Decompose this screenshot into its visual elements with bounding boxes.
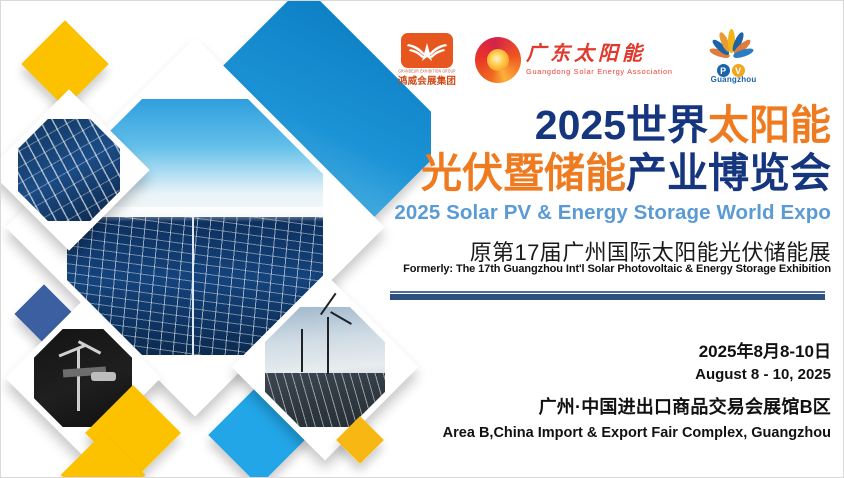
main-title-line-2: 光伏暨储能产业博览会 bbox=[421, 153, 831, 194]
hongwei-chinese-label: 鸿威会展集团 bbox=[398, 73, 456, 87]
gsea-chinese-label: 广东太阳能 bbox=[526, 44, 673, 64]
former-name-english: Formerly: The 17th Guangzhou Int'l Solar… bbox=[403, 263, 831, 275]
title-line1-orange: 太阳能 bbox=[708, 102, 831, 148]
title-line1-navy: 2025世界 bbox=[535, 102, 708, 148]
content-column: GRANDEUR EXHIBITION GROUP 鸿威会展集团 广东太阳能 G… bbox=[381, 1, 844, 478]
event-date-chinese: 2025年8月8-10日 bbox=[699, 337, 831, 362]
hongwei-english-label: GRANDEUR EXHIBITION GROUP bbox=[398, 68, 455, 73]
sun-swirl-icon bbox=[475, 37, 521, 83]
event-date-english: August 8 - 10, 2025 bbox=[695, 366, 831, 383]
subtitle-english: 2025 Solar PV & Energy Storage World Exp… bbox=[394, 201, 831, 225]
logo-row: GRANDEUR EXHIBITION GROUP 鸿威会展集团 广东太阳能 G… bbox=[401, 27, 844, 93]
expo-poster: GRANDEUR EXHIBITION GROUP 鸿威会展集团 广东太阳能 G… bbox=[0, 0, 844, 478]
hongwei-exhibition-group-logo: GRANDEUR EXHIBITION GROUP 鸿威会展集团 bbox=[401, 33, 453, 87]
gsea-english-label: Guangdong Solar Energy Association bbox=[526, 67, 673, 76]
main-title-line-1: 2025世界太阳能 bbox=[535, 105, 831, 146]
event-venue-english: Area B,China Import & Export Fair Comple… bbox=[443, 425, 831, 441]
pv-guangzhou-logo: P V Guangzhou bbox=[695, 34, 769, 86]
hongwei-wings-icon bbox=[401, 33, 453, 68]
guangdong-solar-energy-association-logo: 广东太阳能 Guangdong Solar Energy Association bbox=[475, 37, 673, 83]
pv-city-label: Guangzhou bbox=[711, 75, 757, 84]
title-line2-orange: 光伏暨储能 bbox=[421, 150, 626, 196]
title-line2-navy: 产业博览会 bbox=[626, 150, 831, 196]
divider-rule bbox=[390, 291, 825, 301]
event-venue-chinese: 广州·中国进出口商品交易会展馆B区 bbox=[539, 393, 831, 419]
image-collage bbox=[1, 1, 431, 478]
